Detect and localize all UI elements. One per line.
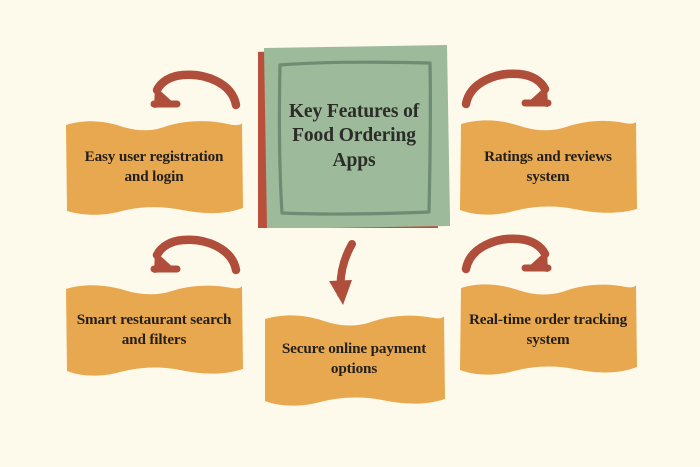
feature-card-easy-registration[interactable]: Easy user registration and login	[64, 116, 244, 218]
arrow-to-easy-registration-icon	[154, 75, 236, 108]
feature-card-label: Easy user registration and login	[64, 116, 244, 218]
center-card-title: Key Features of Food Ordering Apps	[258, 45, 450, 228]
diagram-canvas: Key Features of Food Ordering Apps Easy …	[0, 0, 700, 467]
feature-card-label: Smart restaurant search and filters	[64, 281, 244, 378]
arrow-to-order-tracking-icon	[466, 239, 548, 272]
feature-card-label: Real-time order tracking system	[458, 281, 638, 378]
feature-card-label: Ratings and reviews system	[458, 116, 638, 218]
arrow-to-secure-payment-icon	[329, 244, 352, 305]
feature-card-order-tracking[interactable]: Real-time order tracking system	[458, 281, 638, 378]
arrow-to-smart-search-icon	[154, 240, 236, 273]
feature-card-ratings-reviews[interactable]: Ratings and reviews system	[458, 116, 638, 218]
feature-card-secure-payment[interactable]: Secure online payment options	[262, 310, 446, 408]
feature-card-label: Secure online payment options	[262, 310, 446, 408]
arrow-to-ratings-reviews-icon	[466, 74, 548, 107]
feature-card-smart-search[interactable]: Smart restaurant search and filters	[64, 281, 244, 378]
